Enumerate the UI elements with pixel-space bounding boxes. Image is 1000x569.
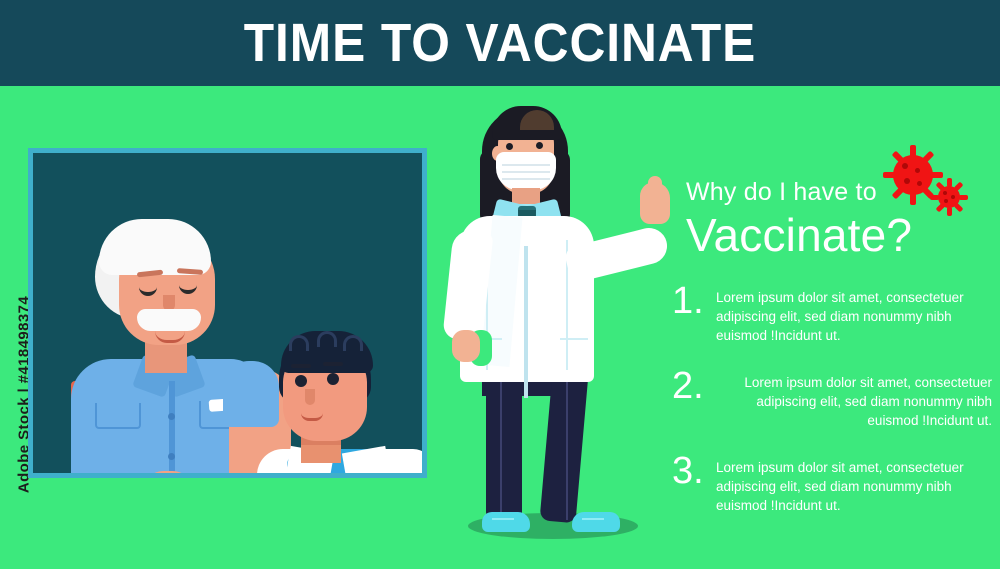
shoe-lace-detail [582,518,604,520]
list-item: 3. Lorem ipsum dolor sit amet, consectet… [672,454,992,515]
face-mask-pleat [502,164,550,166]
virus-icon-small [934,182,964,212]
male-doctor-eye-right [327,373,339,385]
list-item-text: Lorem ipsum dolor sit amet, consectetuer… [716,369,992,430]
list-item-number: 1. [672,284,716,318]
list-item-text: Lorem ipsum dolor sit amet, consectetuer… [716,454,992,515]
shoe-lace-detail [492,518,514,520]
male-doctor-eye-left [295,375,307,387]
male-doctor-hair-curl [343,335,363,351]
poster-canvas: TIME TO VACCINATE Adobe Stock | #4184983… [0,0,1000,569]
credit-strip: Adobe Stock | #418498374 [0,86,24,569]
vaccination-photo-panel [28,148,427,478]
patient-rolled-sleeve [223,361,279,427]
list-item-number: 2. [672,369,716,403]
patient-mustache [137,309,201,331]
male-doctor-nose [305,389,315,405]
list-item-text: Lorem ipsum dolor sit amet, consectetuer… [716,284,992,345]
patient-shirt-placket [169,381,175,478]
female-doctor-coat-zip [524,246,528,398]
virus-icon-large [888,150,938,200]
female-doctor-eye-right [536,142,543,149]
male-doctor-eyebrow-right [323,362,343,366]
female-doctor-shoe-right [572,512,620,532]
list-item: 1. Lorem ipsum dolor sit amet, consectet… [672,284,992,345]
patient-shirt-button [168,453,175,460]
female-doctor-hand-right [640,182,670,224]
female-doctor-coat-pocket [560,338,588,340]
female-doctor-eye-left [506,143,513,150]
face-mask-pleat [502,178,550,180]
patient-shirt-pocket [95,403,141,429]
list-item-number: 3. [672,454,716,488]
female-doctor-trouser-seam [500,380,502,520]
female-doctor-leg-left [486,372,522,522]
question-line-2: Vaccinate? [686,208,912,262]
male-doctor-eyebrow-left [291,364,311,368]
female-doctor-trouser-seam [566,380,568,520]
male-doctor-hair-curl [317,331,337,347]
female-doctor-hand-left [452,330,480,362]
female-doctor-shoe-left [482,512,530,532]
list-item: 2. Lorem ipsum dolor sit amet, consectet… [672,369,992,430]
question-line-1: Why do I have to [686,178,877,207]
page-title: TIME TO VACCINATE [40,12,960,74]
face-mask-pleat [502,171,550,173]
patient-shirt-button [168,413,175,420]
syringe-barrel [244,476,289,478]
patient-hair-top [99,219,211,275]
male-doctor-hair-curl [289,335,309,351]
patient-hand-right [227,473,279,478]
reasons-list: 1. Lorem ipsum dolor sit amet, consectet… [672,284,992,539]
